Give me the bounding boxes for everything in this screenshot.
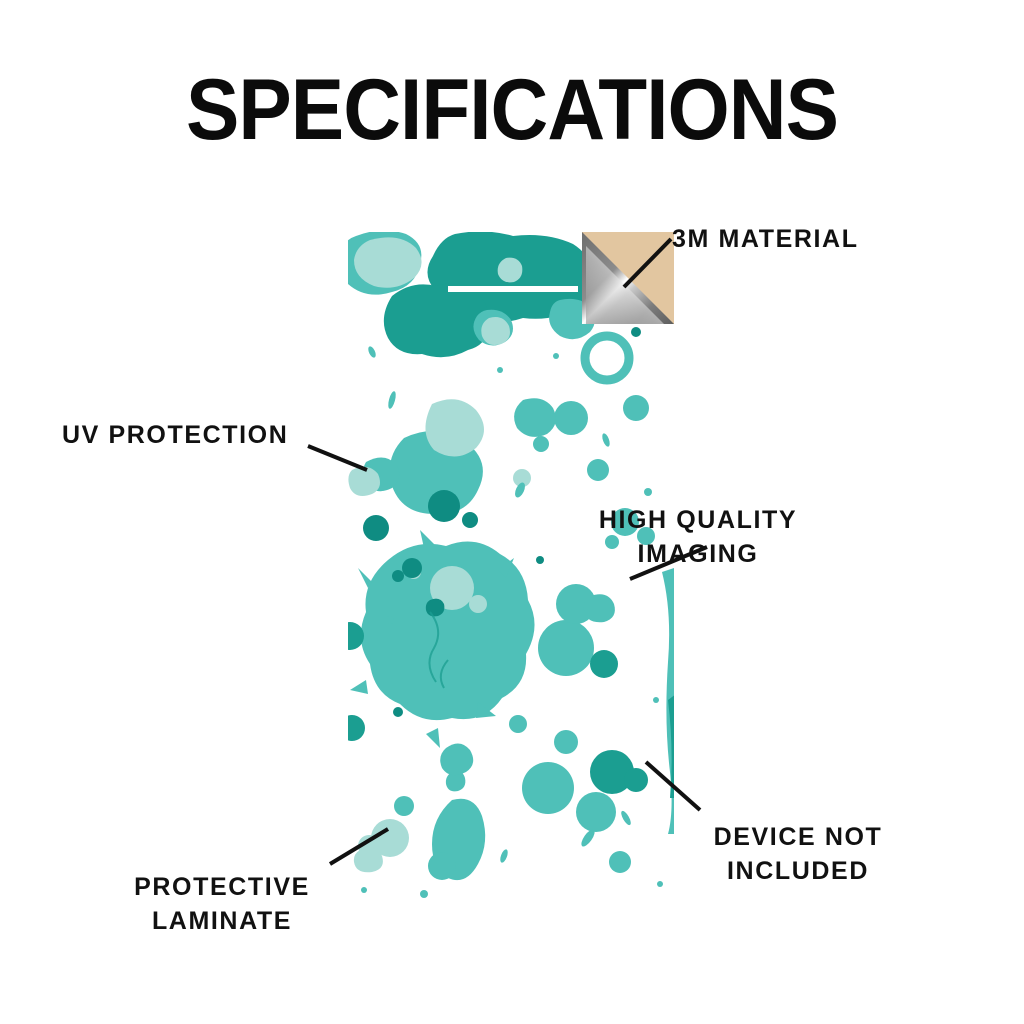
callout-label-device-not-included-line1: DEVICE NOT: [662, 820, 934, 854]
callout-label-protective-laminate-line1: PROTECTIVE: [86, 870, 358, 904]
callout-protective-laminate: PROTECTIVE LAMINATE: [86, 870, 358, 938]
sensor-slot: [466, 394, 522, 399]
callout-label-uv-protection: UV PROTECTION: [62, 418, 288, 452]
callout-3m-material: 3M MATERIAL: [672, 222, 859, 256]
callout-label-3m-material: 3M MATERIAL: [672, 222, 859, 256]
callout-label-high-quality-imaging-line2: IMAGING: [562, 537, 834, 571]
callout-label-high-quality-imaging-line1: HIGH QUALITY: [562, 503, 834, 537]
callout-label-device-not-included-line2: INCLUDED: [662, 854, 934, 888]
earpiece-slot: [448, 286, 578, 292]
specifications-graphic: SPECIFICATIONS: [0, 0, 1024, 1024]
callout-device-not-included: DEVICE NOT INCLUDED: [662, 820, 934, 888]
callout-label-protective-laminate-line2: LAMINATE: [86, 904, 358, 938]
callout-high-quality-imaging: HIGH QUALITY IMAGING: [562, 503, 834, 571]
callout-uv-protection: UV PROTECTION: [62, 418, 288, 452]
